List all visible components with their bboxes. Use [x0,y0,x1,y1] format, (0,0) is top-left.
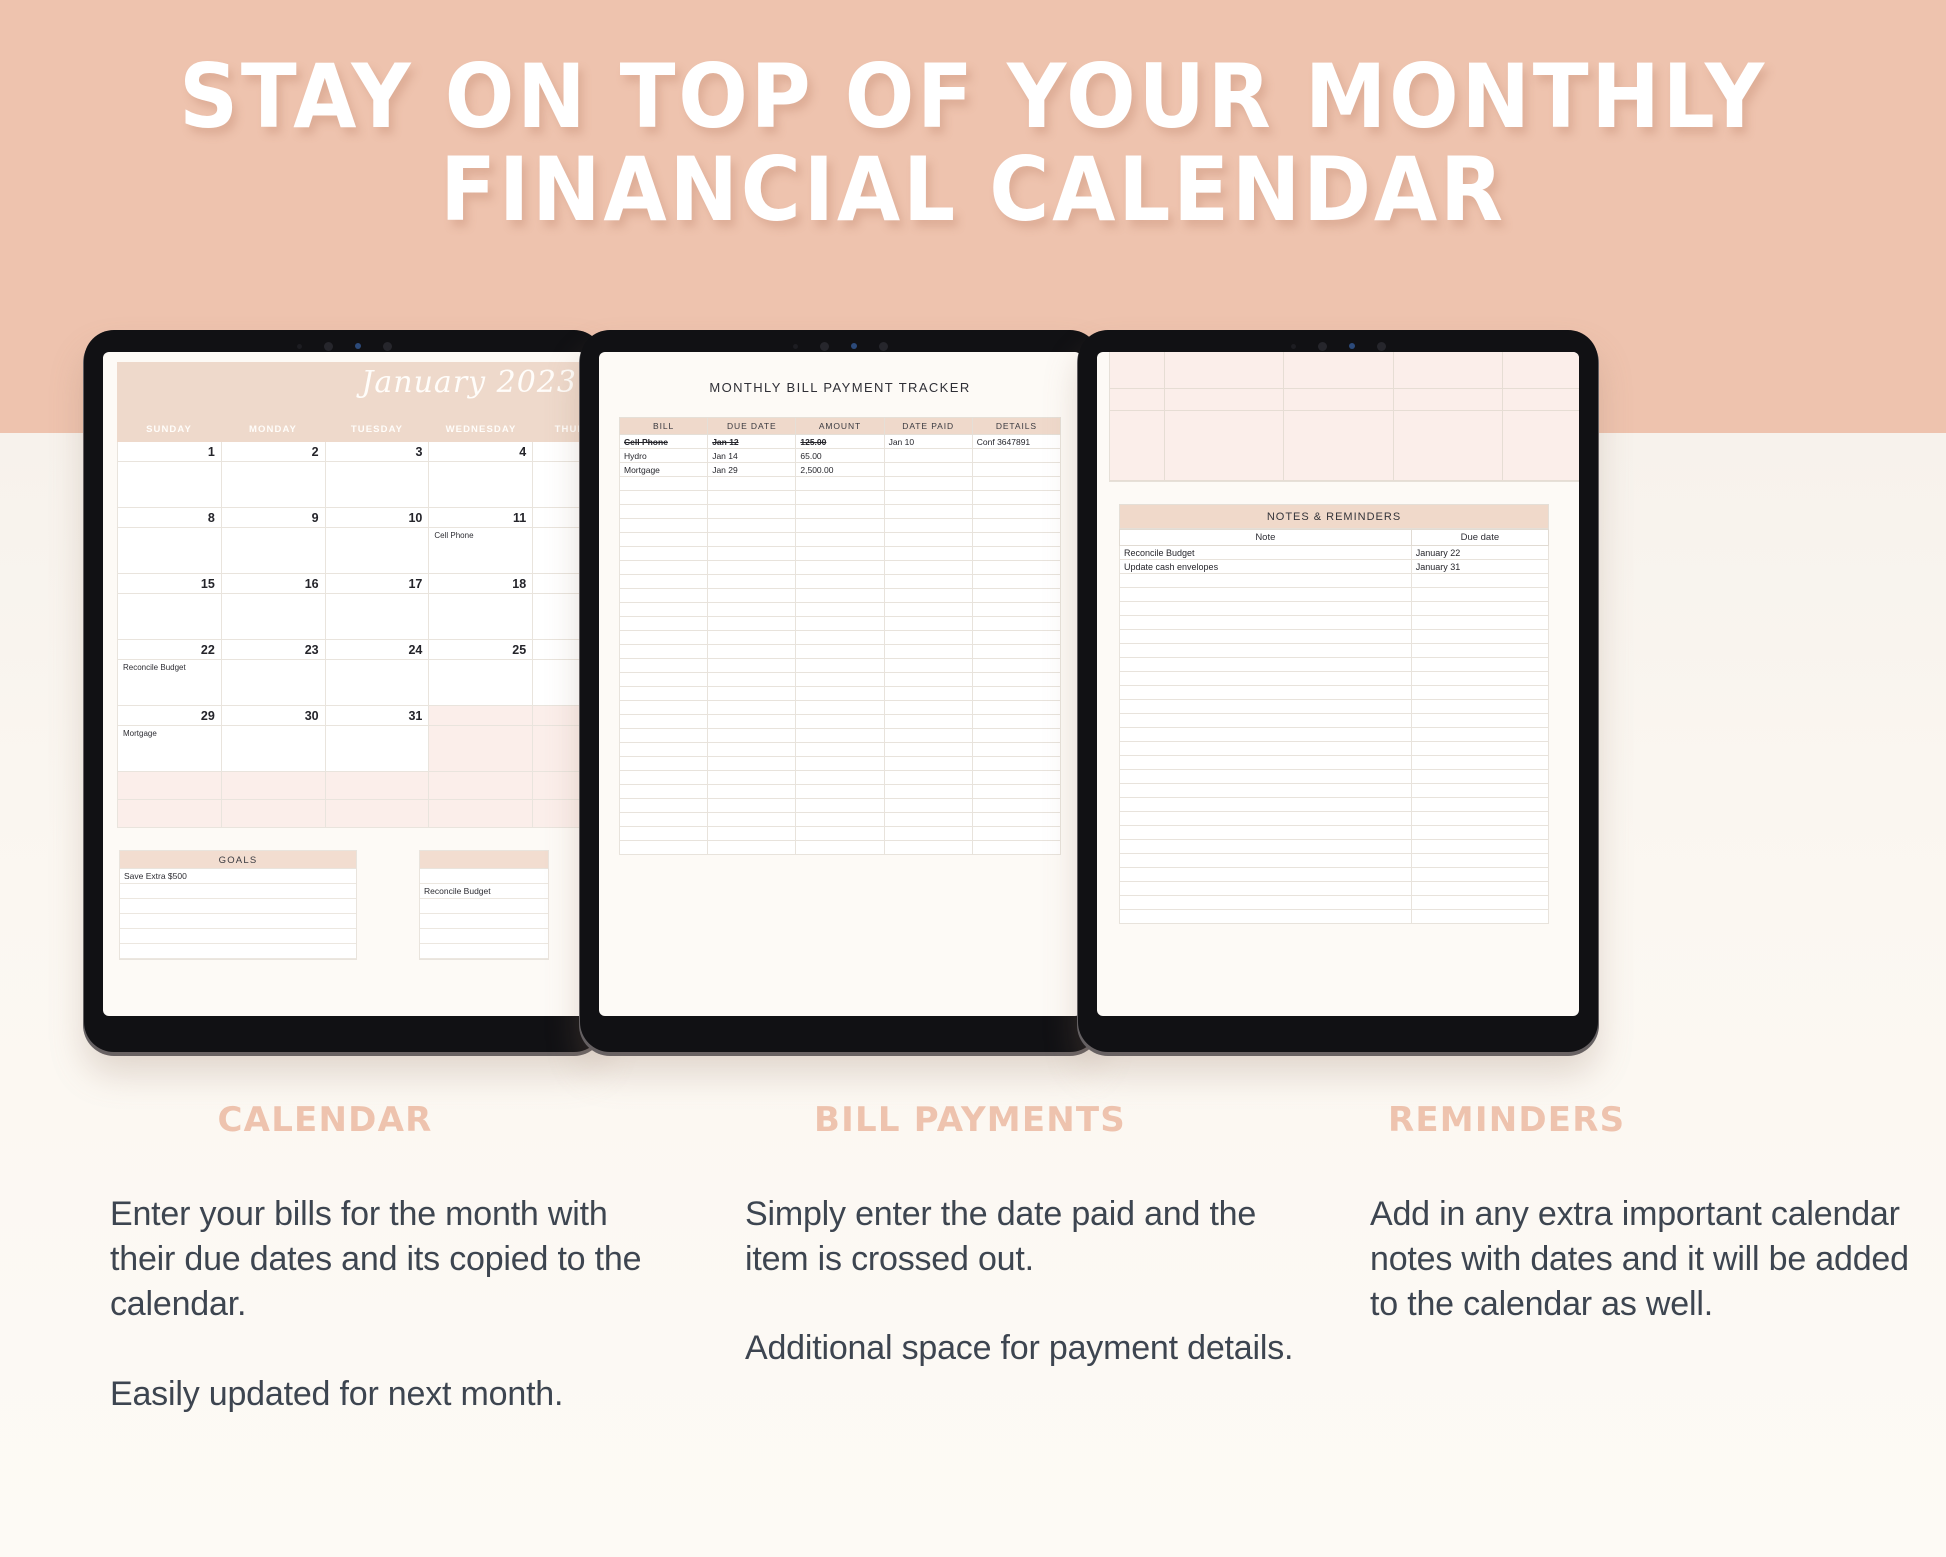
table-row[interactable] [620,785,1061,799]
cell-empty[interactable] [1411,840,1548,854]
cell-empty[interactable] [708,701,796,715]
table-row[interactable] [620,799,1061,813]
calendar-day-cell[interactable] [429,772,533,800]
table-row[interactable] [1120,826,1549,840]
table-row[interactable] [1120,602,1549,616]
cell-empty[interactable] [1411,798,1548,812]
cell-empty[interactable] [796,785,884,799]
table-row[interactable] [620,547,1061,561]
cell-empty[interactable] [708,603,796,617]
cell-empty[interactable] [796,533,884,547]
cell-empty[interactable] [796,771,884,785]
cell-empty[interactable] [972,813,1060,827]
cell-empty[interactable] [884,799,972,813]
table-row[interactable] [1120,700,1549,714]
cell-empty[interactable] [1411,700,1548,714]
cell-empty[interactable] [708,841,796,855]
goals-row[interactable] [120,899,356,914]
cell-empty[interactable] [1120,644,1412,658]
calendar-day-cell[interactable] [117,772,222,800]
cell-empty[interactable] [884,757,972,771]
goals-row[interactable] [120,944,356,959]
cell-empty[interactable] [1411,686,1548,700]
table-row[interactable] [1120,882,1549,896]
cell-empty[interactable] [884,561,972,575]
cell-empty[interactable] [1411,812,1548,826]
cell-empty[interactable] [708,617,796,631]
calendar-day-cell[interactable] [222,800,326,828]
calendar-day-cell[interactable] [533,442,585,508]
cell-empty[interactable] [884,841,972,855]
cell-empty[interactable] [708,687,796,701]
cell-empty[interactable] [972,841,1060,855]
cell-empty[interactable] [972,659,1060,673]
cell-empty[interactable] [796,729,884,743]
cell-empty[interactable] [1411,714,1548,728]
table-row[interactable] [620,533,1061,547]
calendar-day-cell[interactable] [533,574,585,640]
cell-empty[interactable] [972,477,1060,491]
cell-empty[interactable] [972,631,1060,645]
cell-empty[interactable] [1120,896,1412,910]
cell-empty[interactable] [1411,658,1548,672]
cell-details[interactable] [972,463,1060,477]
cell-empty[interactable] [796,813,884,827]
calendar-day-cell[interactable] [222,772,326,800]
cell-empty[interactable] [620,715,708,729]
table-row[interactable] [620,715,1061,729]
table-row[interactable]: HydroJan 1465.00 [620,449,1061,463]
cell-empty[interactable] [620,645,708,659]
cell-empty[interactable] [884,533,972,547]
cell-empty[interactable] [972,547,1060,561]
cell-empty[interactable] [1120,672,1412,686]
calendar-day-cell[interactable]: 11Cell Phone [429,508,533,574]
cell-empty[interactable] [1411,854,1548,868]
table-row[interactable] [620,645,1061,659]
cell-empty[interactable] [796,491,884,505]
calendar-day-cell[interactable]: 9 [222,508,326,574]
cell-empty[interactable] [796,617,884,631]
table-row[interactable] [1120,784,1549,798]
cell-empty[interactable] [884,701,972,715]
cell-empty[interactable] [796,841,884,855]
cell-empty[interactable] [708,631,796,645]
cell-empty[interactable] [708,743,796,757]
table-row[interactable] [620,575,1061,589]
calendar-day-cell[interactable]: 30 [222,706,326,772]
table-row[interactable] [1120,854,1549,868]
table-row[interactable] [620,505,1061,519]
cell-empty[interactable] [972,575,1060,589]
cell-empty[interactable] [1120,784,1412,798]
cell-empty[interactable] [884,491,972,505]
table-row[interactable] [620,729,1061,743]
cell-empty[interactable] [972,827,1060,841]
cell-empty[interactable] [620,673,708,687]
goals-row[interactable] [120,884,356,899]
cell-empty[interactable] [972,533,1060,547]
cell-empty[interactable] [708,477,796,491]
table-row[interactable] [1120,868,1549,882]
table-row[interactable] [620,491,1061,505]
cell-empty[interactable] [620,841,708,855]
calendar-day-cell[interactable]: 15 [117,574,222,640]
cell-empty[interactable] [972,519,1060,533]
table-row[interactable] [620,841,1061,855]
table-row[interactable] [620,813,1061,827]
cell-empty[interactable] [884,547,972,561]
table-row[interactable] [620,477,1061,491]
cell-empty[interactable] [972,715,1060,729]
cell-empty[interactable] [884,617,972,631]
cell-empty[interactable] [708,799,796,813]
table-row[interactable] [1120,798,1549,812]
cell-details[interactable]: Conf 3647891 [972,435,1060,449]
cell-empty[interactable] [972,757,1060,771]
cell-empty[interactable] [620,799,708,813]
table-row[interactable] [620,617,1061,631]
cell-empty[interactable] [708,673,796,687]
cell-empty[interactable] [972,701,1060,715]
calendar-day-cell[interactable] [533,706,585,772]
table-row[interactable] [620,757,1061,771]
cell-empty[interactable] [796,827,884,841]
table-row[interactable] [1120,714,1549,728]
cell-empty[interactable] [1411,826,1548,840]
cell-empty[interactable] [884,603,972,617]
table-row[interactable] [620,743,1061,757]
table-row[interactable] [620,659,1061,673]
calendar-day-cell[interactable] [533,508,585,574]
cell-empty[interactable] [1120,588,1412,602]
table-row[interactable]: Update cash envelopesJanuary 31 [1120,560,1549,574]
cell-empty[interactable] [620,505,708,519]
table-row[interactable] [1120,840,1549,854]
cell-empty[interactable] [620,827,708,841]
cell-empty[interactable] [884,687,972,701]
cell-empty[interactable] [884,575,972,589]
cell-empty[interactable] [620,771,708,785]
cell-empty[interactable] [796,687,884,701]
cell-due-date[interactable]: Jan 12 [708,435,796,449]
cell-empty[interactable] [1120,826,1412,840]
table-row[interactable] [1120,588,1549,602]
cell-empty[interactable] [796,575,884,589]
cell-empty[interactable] [620,519,708,533]
cell-empty[interactable] [1411,602,1548,616]
cell-empty[interactable] [1411,742,1548,756]
cell-empty[interactable] [1411,784,1548,798]
table-row[interactable] [620,603,1061,617]
table-row[interactable]: Cell PhoneJan 12125.00Jan 10Conf 3647891 [620,435,1061,449]
cell-due-date[interactable]: Jan 29 [708,463,796,477]
calendar-day-cell[interactable] [429,800,533,828]
cell-empty[interactable] [972,771,1060,785]
table-row[interactable] [620,701,1061,715]
cell-empty[interactable] [1120,742,1412,756]
cell-empty[interactable] [1120,714,1412,728]
cell-bill[interactable]: Hydro [620,449,708,463]
calendar-day-cell[interactable]: 29Mortgage [117,706,222,772]
cell-empty[interactable] [1120,840,1412,854]
cell-empty[interactable] [796,477,884,491]
cell-empty[interactable] [708,561,796,575]
cell-empty[interactable] [1411,574,1548,588]
table-row[interactable] [1120,616,1549,630]
cell-empty[interactable] [708,785,796,799]
table-row[interactable] [1120,686,1549,700]
cell-empty[interactable] [1411,644,1548,658]
cell-empty[interactable] [796,743,884,757]
cell-empty[interactable] [796,799,884,813]
cell-empty[interactable] [884,827,972,841]
cell-empty[interactable] [1120,658,1412,672]
side-panel-row[interactable] [420,929,548,944]
cell-empty[interactable] [620,561,708,575]
cell-empty[interactable] [1120,686,1412,700]
calendar-day-cell[interactable]: 2 [222,442,326,508]
cell-empty[interactable] [1411,896,1548,910]
table-row[interactable] [620,631,1061,645]
cell-empty[interactable] [1411,756,1548,770]
cell-empty[interactable] [796,505,884,519]
cell-empty[interactable] [884,743,972,757]
table-row[interactable] [1120,630,1549,644]
cell-empty[interactable] [884,785,972,799]
side-panel-row[interactable] [420,899,548,914]
cell-empty[interactable] [884,673,972,687]
cell-empty[interactable] [972,589,1060,603]
cell-empty[interactable] [796,659,884,673]
cell-empty[interactable] [1120,574,1412,588]
cell-empty[interactable] [620,813,708,827]
cell-empty[interactable] [884,519,972,533]
cell-empty[interactable] [884,645,972,659]
cell-empty[interactable] [972,645,1060,659]
cell-empty[interactable] [972,673,1060,687]
cell-empty[interactable] [972,505,1060,519]
cell-empty[interactable] [620,785,708,799]
cell-empty[interactable] [1411,616,1548,630]
side-panel-row[interactable] [420,914,548,929]
calendar-day-cell[interactable] [117,800,222,828]
cell-empty[interactable] [1120,868,1412,882]
cell-empty[interactable] [1120,882,1412,896]
table-row[interactable] [1120,574,1549,588]
cell-empty[interactable] [620,603,708,617]
cell-empty[interactable] [1120,700,1412,714]
cell-amount[interactable]: 125.00 [796,435,884,449]
cell-empty[interactable] [884,477,972,491]
cell-amount[interactable]: 65.00 [796,449,884,463]
cell-empty[interactable] [620,757,708,771]
table-row[interactable] [1120,896,1549,910]
cell-empty[interactable] [708,729,796,743]
goals-row[interactable]: Save Extra $500 [120,869,356,884]
cell-note[interactable]: Update cash envelopes [1120,560,1412,574]
cell-empty[interactable] [708,659,796,673]
goals-row[interactable] [120,929,356,944]
calendar-day-cell[interactable]: 31 [326,706,430,772]
cell-empty[interactable] [884,505,972,519]
cell-empty[interactable] [620,659,708,673]
cell-bill[interactable]: Cell Phone [620,435,708,449]
cell-empty[interactable] [1120,616,1412,630]
cell-empty[interactable] [708,813,796,827]
cell-due-date[interactable]: Jan 14 [708,449,796,463]
table-row[interactable] [1120,742,1549,756]
cell-empty[interactable] [708,645,796,659]
cell-empty[interactable] [1120,854,1412,868]
calendar-day-cell[interactable]: 10 [326,508,430,574]
calendar-day-cell[interactable] [326,800,430,828]
calendar-day-cell[interactable]: 22Reconcile Budget [117,640,222,706]
calendar-day-cell[interactable]: 25 [429,640,533,706]
cell-empty[interactable] [708,757,796,771]
cell-empty[interactable] [708,771,796,785]
cell-empty[interactable] [620,729,708,743]
cell-empty[interactable] [972,743,1060,757]
calendar-day-cell[interactable]: 17 [326,574,430,640]
cell-empty[interactable] [796,757,884,771]
cell-date-paid[interactable] [884,463,972,477]
calendar-day-cell[interactable]: 23 [222,640,326,706]
calendar-day-cell[interactable]: 16 [222,574,326,640]
calendar-day-cell[interactable]: 8 [117,508,222,574]
cell-empty[interactable] [620,701,708,715]
table-row[interactable] [1120,728,1549,742]
cell-empty[interactable] [796,715,884,729]
cell-empty[interactable] [884,729,972,743]
calendar-day-cell[interactable] [326,772,430,800]
cell-empty[interactable] [972,785,1060,799]
cell-empty[interactable] [708,575,796,589]
cell-empty[interactable] [972,617,1060,631]
table-row[interactable] [1120,770,1549,784]
cell-date-paid[interactable]: Jan 10 [884,435,972,449]
cell-empty[interactable] [972,687,1060,701]
calendar-day-cell[interactable]: 4 [429,442,533,508]
calendar-day-cell[interactable]: 1 [117,442,222,508]
side-panel-row[interactable] [420,869,548,884]
cell-empty[interactable] [884,771,972,785]
table-row[interactable] [1120,812,1549,826]
cell-empty[interactable] [620,589,708,603]
cell-bill[interactable]: Mortgage [620,463,708,477]
cell-empty[interactable] [1120,630,1412,644]
cell-empty[interactable] [620,631,708,645]
cell-empty[interactable] [796,673,884,687]
cell-empty[interactable] [972,799,1060,813]
table-row[interactable] [620,771,1061,785]
calendar-event-label[interactable]: Reconcile Budget [123,663,186,672]
side-panel-row[interactable]: Reconcile Budget [420,884,548,899]
cell-empty[interactable] [620,547,708,561]
cell-empty[interactable] [1411,868,1548,882]
table-row[interactable] [1120,658,1549,672]
calendar-day-cell[interactable] [533,772,585,800]
cell-empty[interactable] [796,603,884,617]
cell-empty[interactable] [796,547,884,561]
cell-due-date[interactable]: January 22 [1411,546,1548,560]
table-row[interactable] [620,827,1061,841]
table-row[interactable] [620,519,1061,533]
cell-empty[interactable] [620,575,708,589]
cell-empty[interactable] [708,715,796,729]
calendar-day-cell[interactable] [533,800,585,828]
cell-empty[interactable] [796,701,884,715]
cell-empty[interactable] [620,617,708,631]
cell-date-paid[interactable] [884,449,972,463]
table-row[interactable] [1120,910,1549,924]
calendar-day-cell[interactable] [533,640,585,706]
cell-empty[interactable] [708,589,796,603]
cell-empty[interactable] [708,519,796,533]
cell-details[interactable] [972,449,1060,463]
cell-empty[interactable] [972,561,1060,575]
cell-empty[interactable] [708,827,796,841]
cell-empty[interactable] [884,631,972,645]
table-row[interactable]: Reconcile BudgetJanuary 22 [1120,546,1549,560]
cell-empty[interactable] [1411,910,1548,924]
cell-empty[interactable] [1120,770,1412,784]
cell-empty[interactable] [708,533,796,547]
calendar-day-cell[interactable]: 18 [429,574,533,640]
cell-empty[interactable] [884,715,972,729]
side-panel-row[interactable] [420,944,548,959]
cell-empty[interactable] [972,603,1060,617]
cell-empty[interactable] [972,729,1060,743]
calendar-day-cell[interactable]: 3 [326,442,430,508]
cell-empty[interactable] [884,589,972,603]
cell-empty[interactable] [620,491,708,505]
table-row[interactable] [620,687,1061,701]
cell-empty[interactable] [1411,728,1548,742]
cell-empty[interactable] [1411,770,1548,784]
table-row[interactable] [1120,672,1549,686]
cell-empty[interactable] [620,743,708,757]
cell-due-date[interactable]: January 31 [1411,560,1548,574]
cell-empty[interactable] [1411,672,1548,686]
cell-empty[interactable] [1120,602,1412,616]
cell-empty[interactable] [708,547,796,561]
table-row[interactable] [1120,756,1549,770]
cell-empty[interactable] [1120,798,1412,812]
cell-empty[interactable] [1411,630,1548,644]
calendar-day-cell[interactable]: 24 [326,640,430,706]
calendar-event-label[interactable]: Mortgage [123,729,157,738]
cell-empty[interactable] [884,659,972,673]
table-row[interactable]: MortgageJan 292,500.00 [620,463,1061,477]
cell-empty[interactable] [796,519,884,533]
cell-empty[interactable] [1411,882,1548,896]
cell-empty[interactable] [796,631,884,645]
table-row[interactable] [620,673,1061,687]
cell-empty[interactable] [1120,756,1412,770]
cell-empty[interactable] [1120,910,1412,924]
cell-empty[interactable] [884,813,972,827]
table-row[interactable] [1120,644,1549,658]
cell-empty[interactable] [620,533,708,547]
calendar-day-cell[interactable] [429,706,533,772]
cell-empty[interactable] [708,505,796,519]
cell-empty[interactable] [1411,588,1548,602]
cell-empty[interactable] [620,477,708,491]
table-row[interactable] [620,561,1061,575]
cell-amount[interactable]: 2,500.00 [796,463,884,477]
cell-note[interactable]: Reconcile Budget [1120,546,1412,560]
